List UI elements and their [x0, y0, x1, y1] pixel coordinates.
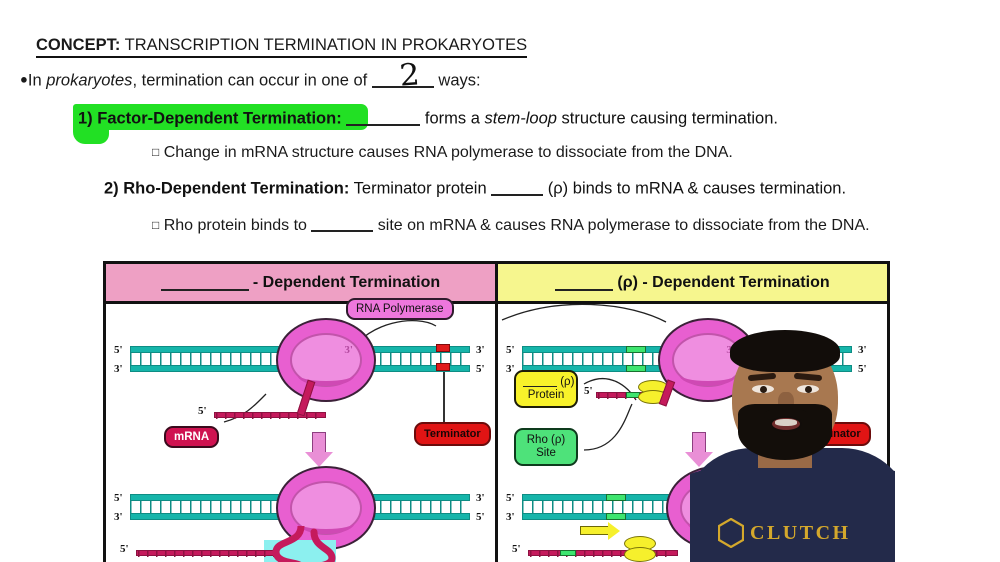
item-1-sub-text: Change in mRNA structure causes RNA poly… [164, 144, 733, 161]
clutch-hexagon-logo-icon [718, 518, 744, 548]
item-2-rest-b: (ρ) binds to mRNA & causes termination. [543, 180, 846, 198]
concept-heading: CONCEPT: TRANSCRIPTION TERMINATION IN PR… [36, 36, 527, 58]
bullet-pre: In [28, 72, 46, 90]
label-5prime-tl: 5' [114, 344, 123, 356]
rho-site-line2: Site [526, 447, 566, 460]
label-5prime-tl-r: 5' [506, 344, 515, 356]
square-bullet-icon: □ [152, 145, 159, 159]
rna-polymerase-blob-1: 3' [276, 318, 376, 402]
rho-protein-line2: Protein [523, 389, 569, 402]
item-2-line: 2) Rho-Dependent Termination: Terminator… [104, 179, 846, 199]
item-1-line: 1) Factor-Dependent Termination: forms a… [78, 109, 778, 129]
header-left-text: - Dependent Termination [253, 274, 440, 292]
bullet-mid: , termination can occur in one of [132, 72, 371, 90]
polymerase-3prime-label: 3' [344, 344, 353, 356]
instructor-shoulder-right [850, 470, 895, 562]
yellow-arrow-shaft [580, 526, 610, 535]
terminator-callout: Terminator [414, 422, 491, 446]
bullet-post: ways: [434, 72, 481, 90]
item-1-lead: 1) Factor-Dependent Termination: [78, 110, 342, 128]
item-2-lead: 2) Rho-Dependent Termination: [104, 180, 349, 198]
terminator-mark-upper [436, 344, 450, 352]
mrna-callout: mRNA [164, 426, 219, 448]
square-bullet-icon-2: □ [152, 218, 159, 232]
header-factor-dependent: - Dependent Termination [106, 264, 498, 301]
slide-page: CONCEPT: TRANSCRIPTION TERMINATION IN PR… [0, 0, 1000, 562]
label-3prime-tl-r: 3' [506, 363, 515, 375]
down-arrow-left [304, 432, 334, 470]
terminator-stem [443, 372, 445, 424]
instructor-video-overlay: CLUTCH [690, 330, 895, 562]
concept-label: CONCEPT: [36, 36, 120, 54]
mrna-teeth-1 [216, 412, 324, 419]
item-2-subpoint: □ Rho protein binds to site on mRNA & ca… [152, 216, 870, 235]
arrow-head [305, 452, 333, 467]
green-highlighter-tail [73, 127, 109, 144]
rho-site-on-mrna-2 [560, 550, 576, 556]
instructor-shoulder-left [690, 470, 740, 562]
instructor-teeth [775, 419, 797, 426]
fill-blank-item2 [491, 179, 543, 196]
instructor-pupil-left [760, 386, 767, 393]
bullet-dot-icon: ● [20, 72, 28, 87]
label-5prime-mrna-2: 5' [120, 543, 129, 555]
label-5prime-mrna: 5' [198, 405, 207, 417]
rho-site-segment-upper [626, 346, 646, 353]
header-right-text: (ρ) - Dependent Termination [617, 274, 829, 292]
label-5prime-bl-r: 5' [506, 492, 515, 504]
label-3prime-bl-r: 3' [506, 511, 515, 523]
label-5prime-tr: 5' [476, 363, 485, 375]
bullet-italic-term: prokaryotes [46, 72, 132, 90]
item-1-italic-term: stem-loop [485, 110, 557, 128]
rho-protein-callout: (ρ) Protein [514, 370, 578, 408]
clutch-wordmark: CLUTCH [750, 522, 851, 545]
label-3prime-bl: 3' [114, 511, 123, 523]
instructor-pupil-right [805, 386, 812, 393]
rho-protein-ring-4 [624, 547, 656, 562]
rho-site-segment-lower [626, 365, 646, 372]
label-5prime-mrna-r: 5' [584, 385, 593, 397]
rho-site-callout: Rho (ρ) Site [514, 428, 578, 466]
label-3prime-tr: 3' [476, 344, 485, 356]
rho-symbol: (ρ) [560, 376, 574, 388]
item-1-rest-b: structure causing termination. [557, 110, 778, 128]
rho-protein-line1: (ρ) [523, 376, 569, 389]
yellow-arrow-head [608, 522, 620, 540]
item-2-sub-text-b: site on mRNA & causes RNA polymerase to … [373, 217, 869, 234]
item-1-subpoint: □ Change in mRNA structure causes RNA po… [152, 144, 733, 162]
fill-blank-item1 [346, 109, 420, 126]
header-rho-dependent: (ρ) - Dependent Termination [498, 264, 887, 301]
rho-site-line1: Rho (ρ) [526, 434, 566, 447]
header-left-blank [161, 275, 249, 291]
header-right-blank [555, 275, 613, 291]
arrow-shaft [312, 432, 326, 454]
instructor-hair [730, 330, 840, 372]
item-2-sub-text-a: Rho protein binds to [164, 217, 312, 234]
rho-site-segment-upper-2 [606, 494, 626, 501]
label-5prime-bl: 5' [114, 492, 123, 504]
stem-loop-hairpin [256, 526, 346, 562]
concept-title: TRANSCRIPTION TERMINATION IN PROKARYOTES [120, 36, 527, 54]
rna-polymerase-callout: RNA Polymerase [346, 298, 454, 320]
rho-protein-blank [523, 377, 557, 387]
diagram-header-row: - Dependent Termination (ρ) - Dependent … [106, 264, 887, 304]
label-5prime-mrna-3: 5' [512, 543, 521, 555]
handwritten-answer-two: 2 [398, 57, 420, 93]
rho-site-segment-lower-2 [606, 513, 626, 520]
label-5prime-br: 5' [476, 511, 485, 523]
fill-blank-item2-sub [311, 216, 373, 232]
rho-translocation-arrow [580, 522, 626, 540]
terminator-mark-lower [436, 363, 450, 371]
item-1-rest-a: forms a [420, 110, 484, 128]
label-3prime-tl: 3' [114, 363, 123, 375]
mrna-teeth-2 [138, 550, 274, 557]
item-2-rest-a: Terminator protein [349, 180, 491, 198]
label-3prime-br: 3' [476, 492, 485, 504]
panel-factor-dependent: 5' 3' 3' 5' Terminator 3' [106, 304, 498, 562]
